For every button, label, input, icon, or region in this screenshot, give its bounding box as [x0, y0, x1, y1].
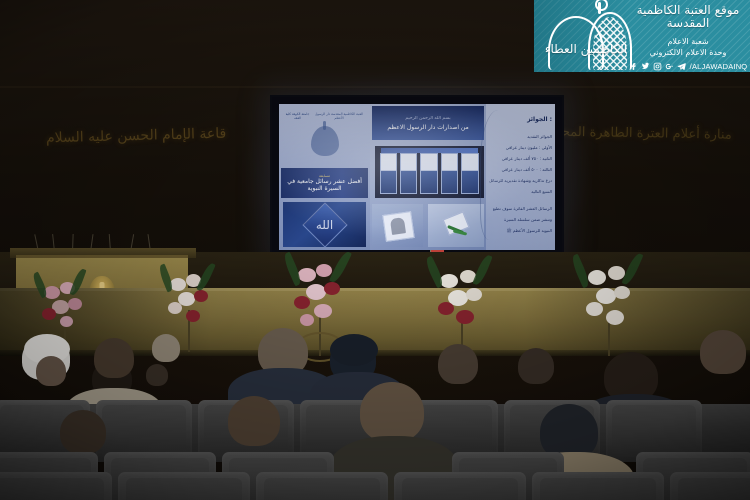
audience-area	[0, 300, 750, 500]
theater-seat[interactable]	[0, 472, 112, 500]
theater-seat[interactable]	[118, 472, 250, 500]
slide-booklet-photo	[372, 204, 423, 247]
facebook-icon[interactable]	[629, 62, 638, 71]
prize-line: الأولى : مليون دينار عراقي	[506, 145, 552, 150]
shrine-dome-icon	[308, 126, 342, 164]
prize-line: درع تذكارية وشهادة تقديرية للرسائل	[489, 178, 552, 183]
logo-calligraphy: الكاظمين العطاء	[544, 42, 628, 56]
google-plus-icon[interactable]	[665, 62, 674, 71]
attendee-head	[438, 344, 478, 384]
slide-books-photo	[375, 146, 484, 198]
prize-line: السبع التالية	[531, 189, 552, 194]
telegram-icon[interactable]	[677, 62, 686, 71]
caption-bismillah: بسم الله الرحمن الرحيم	[405, 116, 450, 121]
shrine-logo-icon: الكاظمين العطاء	[538, 2, 630, 70]
theater-seat[interactable]	[394, 472, 526, 500]
attendee-turban	[330, 334, 378, 366]
attendee-head	[146, 364, 168, 386]
slide-center-caption: بسم الله الرحمن الرحيم من اصدارات دار ال…	[372, 106, 483, 140]
instagram-icon[interactable]	[653, 62, 662, 71]
slide-center-panel: بسم الله الرحمن الرحيم من اصدارات دار ال…	[370, 104, 486, 250]
prize-line: وتنشر ضمن سلسلة السيرة	[504, 217, 552, 222]
banner-title: أفضل عشر رسائل جامعية في السيرة النبوية	[281, 178, 368, 193]
prize-line: الثالثة : ٥٠٠ ألف دينار عراقي	[502, 167, 552, 172]
projection-screen: جامعة الكوفة كلية الفقه العتبة الكاظمية …	[270, 95, 564, 259]
theater-seat[interactable]	[256, 472, 388, 500]
attendee-head	[700, 330, 746, 374]
caption-publications: من اصدارات دار الرسول الاعظم	[387, 124, 468, 131]
slide-left-panel: جامعة الكوفة كلية الفقه العتبة الكاظمية …	[279, 104, 370, 250]
prizes-title: الجوائز :	[527, 116, 552, 123]
attendee-head	[60, 410, 106, 454]
slide-header-right: العتبة الكاظمية المقدسة دار الرسول الأعظ…	[312, 112, 366, 121]
theater-seat[interactable]	[532, 472, 664, 500]
slide-header-left: جامعة الكوفة كلية الفقه	[283, 112, 312, 121]
dome-lattice-icon	[588, 12, 632, 70]
calligraphy-glyph: الله	[316, 218, 333, 232]
watermark-text-block: موقع العتبة الكاظمية المقدسة شعبة الاعلا…	[632, 4, 744, 71]
slide-stationery-photo	[428, 204, 484, 247]
attendee-head	[360, 382, 424, 442]
watermark-subtitle-1: شعبة الاعلام	[632, 37, 744, 46]
finial-icon	[598, 2, 601, 14]
presentation-slide: جامعة الكوفة كلية الفقه العتبة الكاظمية …	[279, 104, 555, 250]
attendee-head	[36, 356, 66, 386]
watermark-title: موقع العتبة الكاظمية المقدسة	[632, 4, 744, 30]
attendee-head	[518, 348, 554, 384]
twitter-icon[interactable]	[641, 62, 650, 71]
prize-line: الرسائل العشر الفائزة سوف تطبع	[493, 206, 552, 211]
attendee-head	[94, 338, 134, 378]
slide-poster-art: الله	[283, 202, 366, 247]
prize-line: النبوية للرسول الأعظم ﷺ	[506, 228, 552, 235]
slide-contest-banner: مسابقة أفضل عشر رسائل جامعية في السيرة ا…	[281, 168, 368, 198]
watermark-social-row: /ALJAWADAINQ	[632, 62, 744, 71]
theater-seat[interactable]	[670, 472, 750, 500]
slide-right-panel: الجوائز : الجوائز النقدية الأولى : مليون…	[486, 104, 555, 250]
watermark-subtitle-2: وحدة الاعلام الالكتروني	[632, 48, 744, 57]
screenshot-root: قاعة الإمام الحسن عليه السلام منارة أعلا…	[0, 0, 750, 500]
attendee-head	[152, 334, 180, 362]
prize-line: الجوائز النقدية	[527, 134, 552, 139]
prize-line: الثانية : ٧٥٠ ألف دينار عراقي	[502, 156, 552, 161]
social-handle: /ALJAWADAINQ	[690, 62, 748, 71]
watermark-banner: الكاظمين العطاء موقع العتبة الكاظمية الم…	[534, 0, 750, 72]
attendee-head	[228, 396, 280, 446]
